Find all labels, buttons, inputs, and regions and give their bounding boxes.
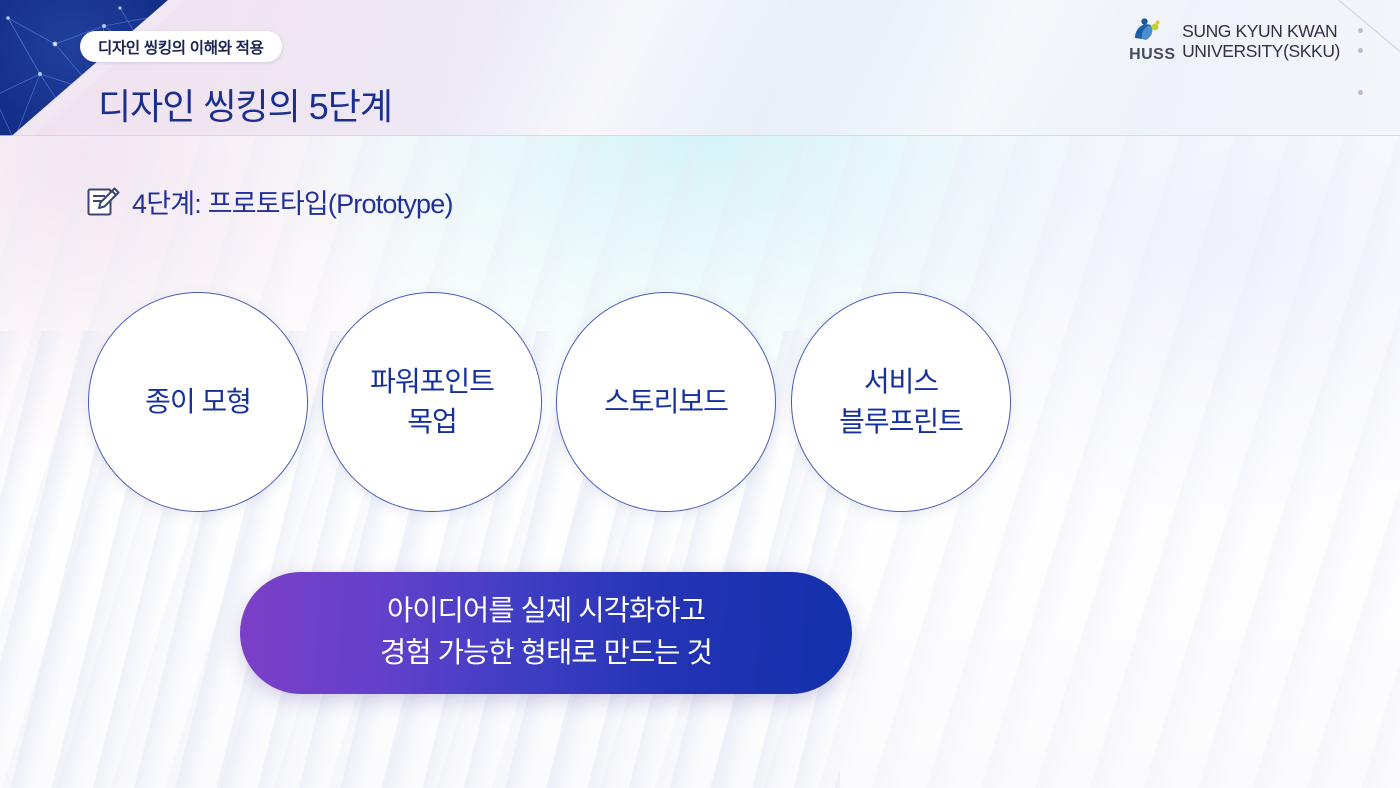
subtitle-text: 4단계: 프로토타입(Prototype) bbox=[132, 182, 453, 221]
circle-label: 파워포인트 목업 bbox=[362, 362, 502, 442]
callout-line-1: 아이디어를 실제 시각화하고 bbox=[387, 591, 705, 633]
university-name-line2: UNIVERSITY(SKKU) bbox=[1182, 41, 1340, 61]
circle-label: 종이 모형 bbox=[137, 382, 259, 422]
section-subtitle: 4단계: 프로토타입(Prototype) bbox=[86, 182, 453, 221]
slide-root: 디자인 씽킹의 이해와 적용 디자인 씽킹의 5단계 HUSS SUNG KYU… bbox=[0, 0, 1400, 788]
circle-item-storyboard[interactable]: 스토리보드 bbox=[556, 292, 776, 512]
summary-callout: 아이디어를 실제 시각화하고 경험 가능한 형태로 만드는 것 bbox=[240, 572, 852, 694]
circle-item-service-blueprint[interactable]: 서비스 블루프린트 bbox=[791, 292, 1011, 512]
callout-line-2: 경험 가능한 형태로 만드는 것 bbox=[380, 633, 712, 675]
dot-1 bbox=[1358, 28, 1363, 33]
huss-logo-mark: HUSS bbox=[1129, 18, 1171, 64]
header-bottom-rule bbox=[0, 135, 1400, 136]
circle-label: 스토리보드 bbox=[596, 382, 736, 422]
circle-item-powerpoint-mockup[interactable]: 파워포인트 목업 bbox=[322, 292, 542, 512]
page-title: 디자인 씽킹의 5단계 bbox=[98, 78, 392, 130]
slide-header: 디자인 씽킹의 이해와 적용 디자인 씽킹의 5단계 HUSS SUNG KYU… bbox=[0, 0, 1400, 136]
university-name-line1: SUNG KYUN KWAN bbox=[1182, 21, 1340, 41]
dot-2 bbox=[1358, 48, 1363, 53]
circle-label: 서비스 블루프린트 bbox=[831, 362, 971, 442]
prototype-method-circles: 종이 모형 파워포인트 목업 스토리보드 서비스 블루프린트 bbox=[0, 292, 1400, 520]
circle-item-paper-model[interactable]: 종이 모형 bbox=[88, 292, 308, 512]
huss-emblem-icon bbox=[1131, 18, 1165, 44]
university-logo: HUSS SUNG KYUN KWAN UNIVERSITY(SKKU) bbox=[1129, 18, 1340, 64]
huss-wordmark: HUSS bbox=[1129, 46, 1175, 64]
breadcrumb: 디자인 씽킹의 이해와 적용 bbox=[80, 31, 282, 62]
memo-pencil-icon bbox=[86, 186, 120, 218]
dot-3 bbox=[1358, 90, 1363, 95]
university-name: SUNG KYUN KWAN UNIVERSITY(SKKU) bbox=[1182, 21, 1340, 62]
